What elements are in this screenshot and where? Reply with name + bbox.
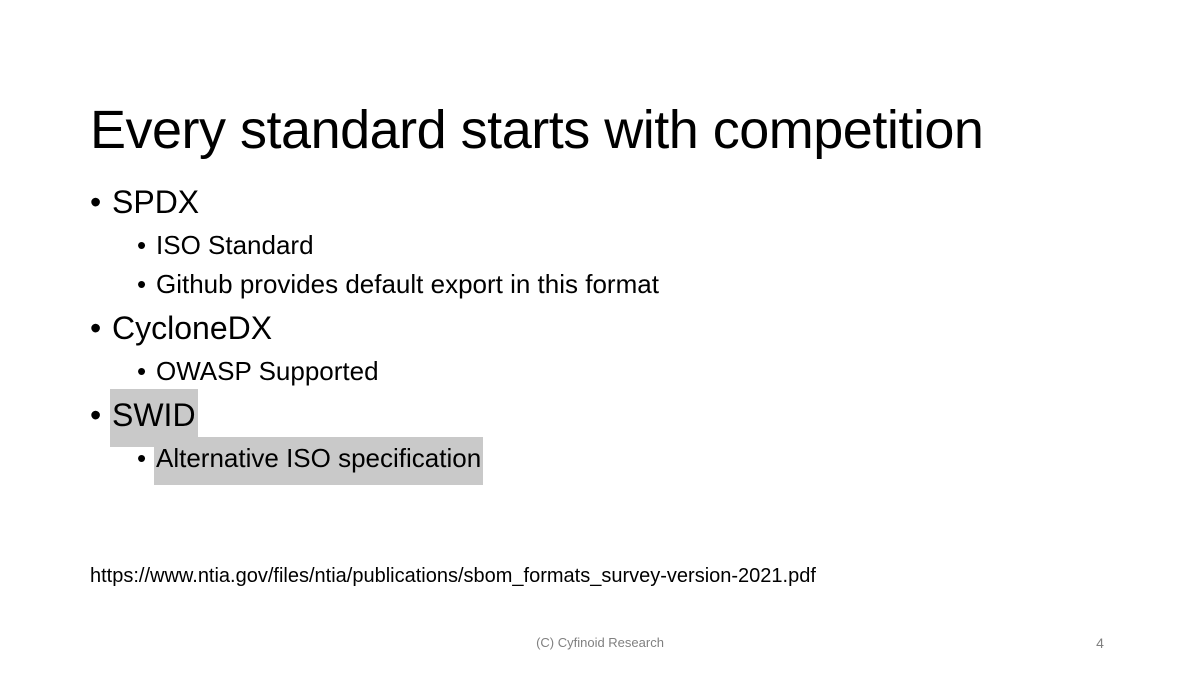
bullet-text: CycloneDX	[112, 304, 272, 352]
bullet-item-level1[interactable]: •SPDX	[90, 178, 1110, 226]
bullet-item-level1[interactable]: •CycloneDX	[90, 304, 1110, 352]
slide-page-number: 4	[1090, 633, 1110, 653]
bullet-item-level2[interactable]: •Github provides default export in this …	[137, 265, 1110, 304]
bullet-text: SPDX	[112, 178, 199, 226]
bullet-item-level2[interactable]: •OWASP Supported	[137, 352, 1110, 391]
bullet-text: Github provides default export in this f…	[156, 265, 659, 304]
bullet-point-icon: •	[90, 178, 112, 226]
bullet-list: •SPDX•ISO Standard•Github provides defau…	[90, 178, 1110, 478]
bullet-point-icon: •	[90, 391, 112, 439]
bullet-point-icon: •	[90, 304, 112, 352]
source-url-text[interactable]: https://www.ntia.gov/files/ntia/publicat…	[90, 563, 816, 589]
bullet-text: OWASP Supported	[156, 352, 379, 391]
bullet-text-highlighted: Alternative ISO specification	[154, 437, 483, 485]
bullet-point-icon: •	[137, 352, 156, 391]
slide-canvas: Every standard starts with competition •…	[0, 0, 1200, 675]
bullet-text: ISO Standard	[156, 226, 314, 265]
footer-credit: (C) Cyfinoid Research	[0, 634, 1200, 652]
bullet-point-icon: •	[137, 226, 156, 265]
page-title: Every standard starts with competition	[90, 98, 1120, 162]
bullet-item-level2[interactable]: •Alternative ISO specification	[137, 439, 1110, 478]
bullet-item-level1[interactable]: •SWID	[90, 391, 1110, 439]
bullet-point-icon: •	[137, 265, 156, 304]
bullet-item-level2[interactable]: •ISO Standard	[137, 226, 1110, 265]
